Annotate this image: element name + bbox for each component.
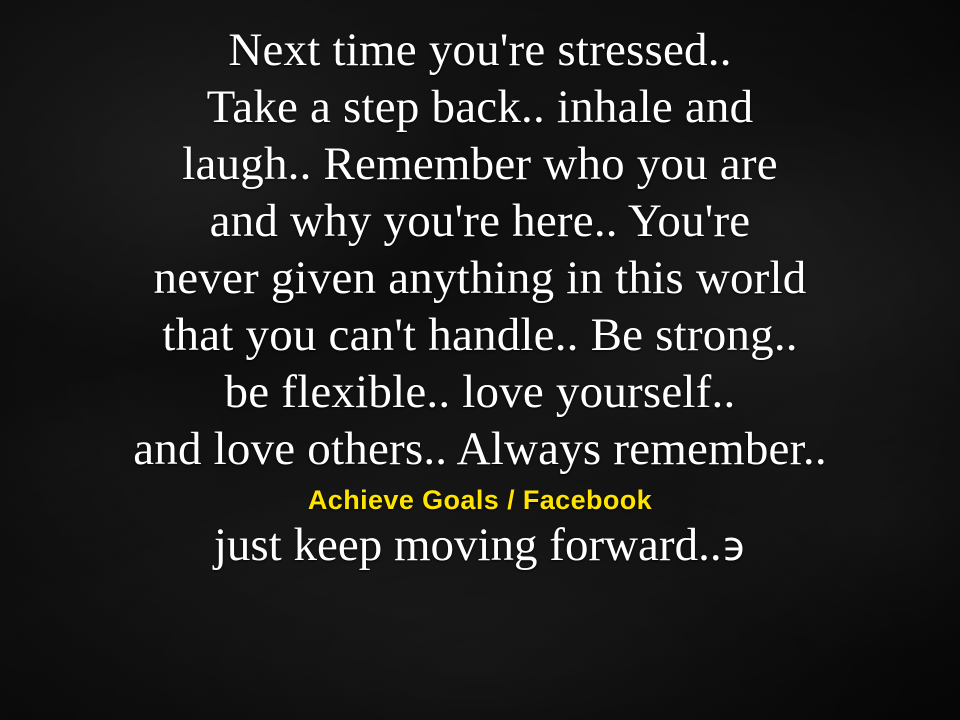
quote-line: Next time you're stressed.. — [228, 22, 731, 79]
quote-line: be flexible.. love yourself.. — [225, 364, 736, 421]
quote-line: and love others.. Always remember.. — [133, 421, 827, 478]
final-quote-line: just keep moving forward..϶ — [214, 517, 746, 575]
quote-line: and why you're here.. You're — [210, 193, 751, 250]
heart-glyph-icon: ϶ — [722, 524, 747, 570]
quote-line: that you can't handle.. Be strong.. — [162, 307, 797, 364]
quote-image: Next time you're stressed.. Take a step … — [0, 0, 960, 720]
credit-attribution: Achieve Goals / Facebook — [308, 484, 652, 516]
final-line-text: just keep moving forward.. — [214, 519, 722, 571]
quote-line: never given anything in this world — [154, 250, 807, 307]
quote-text-block: Next time you're stressed.. Take a step … — [0, 0, 960, 720]
quote-line: laugh.. Remember who you are — [182, 136, 778, 193]
quote-line: Take a step back.. inhale and — [207, 79, 754, 136]
